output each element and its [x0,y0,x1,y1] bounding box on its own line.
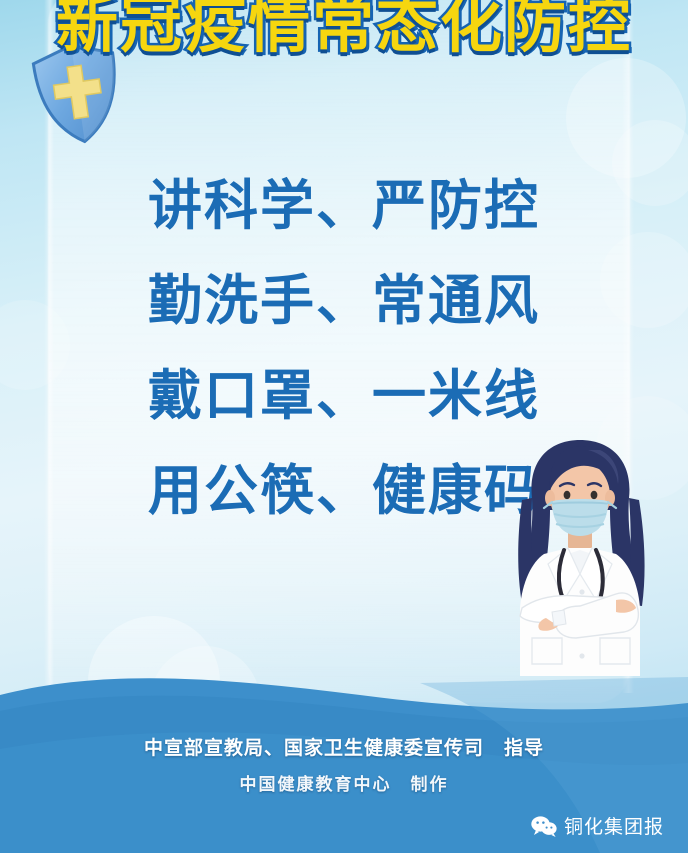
footer-line-2: 中国健康教育中心 制作 [0,770,688,795]
poster-canvas: 新冠疫情常态化防控 讲科学、严防控 勤洗手、常通风 戴口罩、一米线 用公筷、健康… [0,0,688,853]
watermark: 铜化集团报 [531,812,664,839]
slogan-line-2: 勤洗手、常通风 [0,253,688,348]
footer-line-1: 中宣部宣教局、国家卫生健康委宣传司 指导 [0,733,688,760]
slogan-line-1: 讲科学、严防控 [0,158,688,253]
page-title: 新冠疫情常态化防控 [0,0,688,64]
watermark-label: 铜化集团报 [564,812,664,839]
wechat-icon [531,815,557,837]
footer-credits: 中宣部宣教局、国家卫生健康委宣传司 指导 中国健康教育中心 制作 [0,733,688,795]
slogan-line-3: 戴口罩、一米线 [0,348,688,443]
female-doctor-illustration [492,432,668,676]
